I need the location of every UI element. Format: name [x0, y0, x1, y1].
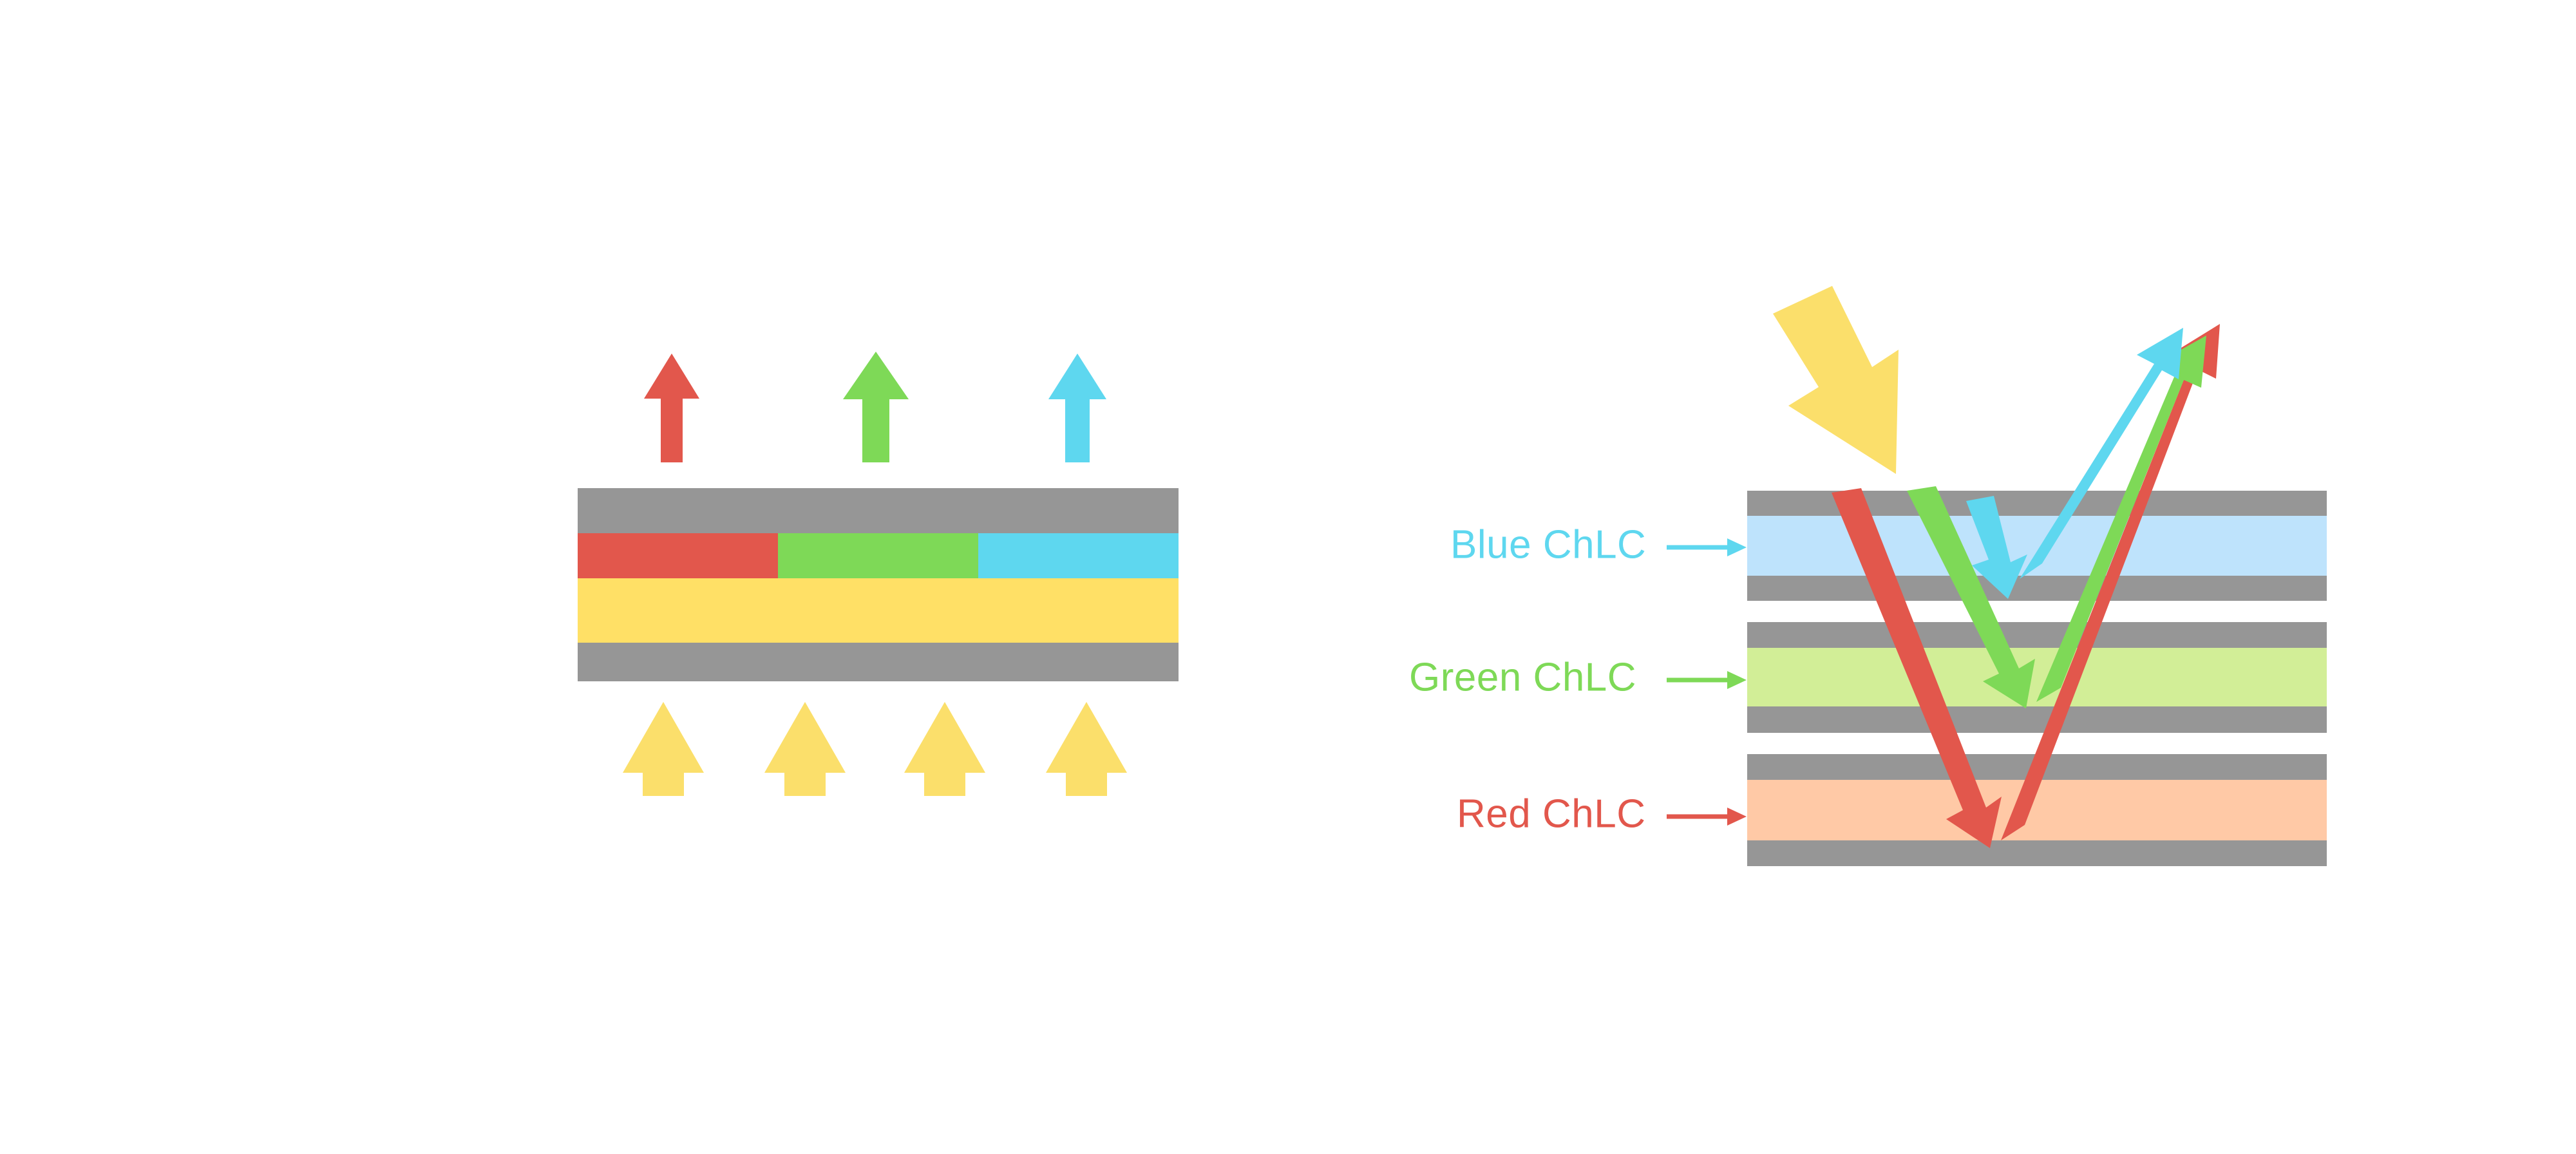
- left-top-electrode-layer: [578, 488, 1179, 533]
- green-chlc-panel: [1747, 622, 2327, 733]
- green-filter-segment: [778, 533, 978, 578]
- yellow-backlight-layer: [578, 578, 1179, 643]
- chlc-diagram-svg: Blue ChLC Green ChLC Red ChLC: [0, 0, 2576, 1154]
- red-panel-bottom-electrode: [1747, 840, 2327, 866]
- figure-root: Blue ChLC Green ChLC Red ChLC: [0, 0, 2576, 1154]
- green-chlc-label: Green ChLC: [1409, 655, 1636, 699]
- green-chlc-layer: [1747, 648, 2327, 706]
- blue-panel-bottom-electrode: [1747, 576, 2327, 601]
- green-panel-bottom-electrode: [1747, 706, 2327, 733]
- blue-chlc-label: Blue ChLC: [1450, 522, 1646, 567]
- chlc-stack-group: [1747, 491, 2327, 866]
- blue-chlc-panel: [1747, 491, 2327, 601]
- rgb-color-filter-band: [578, 533, 1179, 578]
- blue-filter-segment: [978, 533, 1179, 578]
- red-chlc-label: Red ChLC: [1457, 791, 1645, 836]
- green-panel-top-electrode: [1747, 622, 2327, 648]
- red-filter-segment: [578, 533, 778, 578]
- left-bottom-electrode-layer: [578, 643, 1179, 681]
- left-layer-stack-group: [578, 488, 1179, 681]
